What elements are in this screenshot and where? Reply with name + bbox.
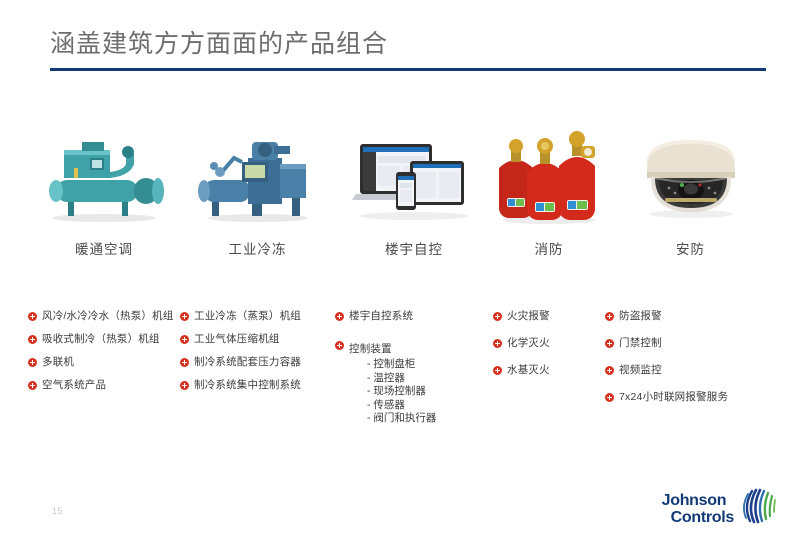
list-item[interactable]: 控制装置 控制盘柜 温控器 现场控制器 传感器 阀门和执行器 [335,339,493,426]
plus-circle-icon [605,366,614,375]
plus-circle-icon [335,341,344,350]
bullet-label: 制冷系统集中控制系统 [194,379,301,392]
bullet-label: 视频监控 [619,364,662,377]
title-block: 涵盖建筑方方面面的产品组合 [50,26,766,71]
bullet-label: 楼宇自控系统 [349,310,413,323]
slide-canvas: 涵盖建筑方方面面的产品组合 [0,0,800,544]
list-item[interactable]: 火灾报警 [493,310,605,323]
dome-security-camera-photo [625,128,757,224]
sub-list-item: 传感器 [367,399,436,413]
plus-circle-icon [493,312,502,321]
bullet-label: 水基灭火 [507,364,550,377]
plus-circle-icon [493,366,502,375]
plus-circle-icon [605,312,614,321]
category-label-security: 安防 [676,238,705,258]
category-column-fire: 消防 [493,128,605,258]
bullet-label: 多联机 [42,356,74,369]
bullet-label: 7x24小时联网报警服务 [619,391,728,404]
bullet-label: 风冷/水冷冷水（热泵）机组 [42,310,174,323]
plus-circle-icon [28,358,37,367]
category-label-building-automation: 楼宇自控 [385,238,443,258]
bullet-column-building-automation: 楼宇自控系统 控制装置 控制盘柜 温控器 现场控制器 传感器 阀门和执行器 [335,308,493,436]
bullet-label: 空气系统产品 [42,379,106,392]
list-item[interactable]: 水基灭火 [493,364,605,377]
sub-list-item: 控制盘柜 [367,358,436,372]
bullet-column-industrial-refrigeration: 工业冷冻（蒸泵）机组 工业气体压缩机组 制冷系统配套压力容器 制冷系统集中控制系… [180,308,335,402]
category-column-security: 安防 [605,128,776,258]
list-item[interactable]: 空气系统产品 [28,379,180,392]
product-category-row: 暖通空调 [28,128,776,258]
sub-list-item: 温控器 [367,372,436,386]
category-column-hvac: 暖通空调 [28,128,180,258]
list-item[interactable]: 楼宇自控系统 [335,310,493,323]
list-item[interactable]: 视频监控 [605,364,776,377]
plus-circle-icon [180,358,189,367]
bullet-label: 吸收式制冷（热泵）机组 [42,333,160,346]
list-item[interactable]: 化学灭火 [493,337,605,350]
bullet-label: 工业冷冻（蒸泵）机组 [194,310,301,323]
bullet-column-security: 防盗报警 门禁控制 视频监控 7x24小时联网报警服务 [605,308,776,414]
bullet-label: 火灾报警 [507,310,550,323]
title-underline-rule [50,68,766,71]
list-item[interactable]: 风冷/水冷冷水（热泵）机组 [28,310,180,323]
industrial-compressor-photo [192,128,324,224]
plus-circle-icon [28,335,37,344]
page-number: 15 [52,506,63,516]
logo-line-1: Johnson [662,492,734,509]
johnson-controls-globe-mark [738,487,778,530]
list-item[interactable]: 工业冷冻（蒸泵）机组 [180,310,335,323]
sub-list-item: 阀门和执行器 [367,412,436,426]
plus-circle-icon [180,335,189,344]
list-item[interactable]: 多联机 [28,356,180,369]
fire-suppression-cylinders-photo [483,128,615,224]
sub-list-item: 现场控制器 [367,385,436,399]
bullet-label: 化学灭火 [507,337,550,350]
bullet-group: 控制装置 控制盘柜 温控器 现场控制器 传感器 阀门和执行器 [349,339,436,426]
list-item[interactable]: 吸收式制冷（热泵）机组 [28,333,180,346]
plus-circle-icon [28,381,37,390]
bullet-column-fire: 火灾报警 化学灭火 水基灭火 [493,308,605,387]
list-item[interactable]: 7x24小时联网报警服务 [605,391,776,404]
list-item[interactable]: 门禁控制 [605,337,776,350]
list-item[interactable]: 防盗报警 [605,310,776,323]
sub-list: 控制盘柜 温控器 现场控制器 传感器 阀门和执行器 [349,358,436,426]
johnson-controls-logo: Johnson Controls [662,487,778,530]
feature-bullet-row: 风冷/水冷冷水（热泵）机组 吸收式制冷（热泵）机组 多联机 空气系统产品 工业冷… [28,308,776,436]
plus-circle-icon [180,381,189,390]
laptop-tablet-phone-dashboard-photo [348,128,480,224]
bullet-label: 控制装置 [349,343,392,355]
category-label-hvac: 暖通空调 [75,238,133,258]
plus-circle-icon [180,312,189,321]
bullet-label: 工业气体压缩机组 [194,333,280,346]
plus-circle-icon [28,312,37,321]
list-item[interactable]: 制冷系统集中控制系统 [180,379,335,392]
plus-circle-icon [493,339,502,348]
plus-circle-icon [335,312,344,321]
category-label-fire: 消防 [535,238,564,258]
page-title: 涵盖建筑方方面面的产品组合 [50,26,766,62]
logo-line-2: Controls [662,509,734,526]
centrifugal-chiller-photo [38,128,170,224]
category-column-building-automation: 楼宇自控 [335,128,493,258]
bullet-column-hvac: 风冷/水冷冷水（热泵）机组 吸收式制冷（热泵）机组 多联机 空气系统产品 [28,308,180,402]
logo-wordmark: Johnson Controls [662,492,734,526]
category-column-industrial-refrigeration: 工业冷冻 [180,128,335,258]
category-label-industrial-refrigeration: 工业冷冻 [229,238,287,258]
plus-circle-icon [605,393,614,402]
bullet-label: 制冷系统配套压力容器 [194,356,301,369]
bullet-label: 防盗报警 [619,310,662,323]
plus-circle-icon [605,339,614,348]
bullet-label: 门禁控制 [619,337,662,350]
list-item[interactable]: 工业气体压缩机组 [180,333,335,346]
list-item[interactable]: 制冷系统配套压力容器 [180,356,335,369]
